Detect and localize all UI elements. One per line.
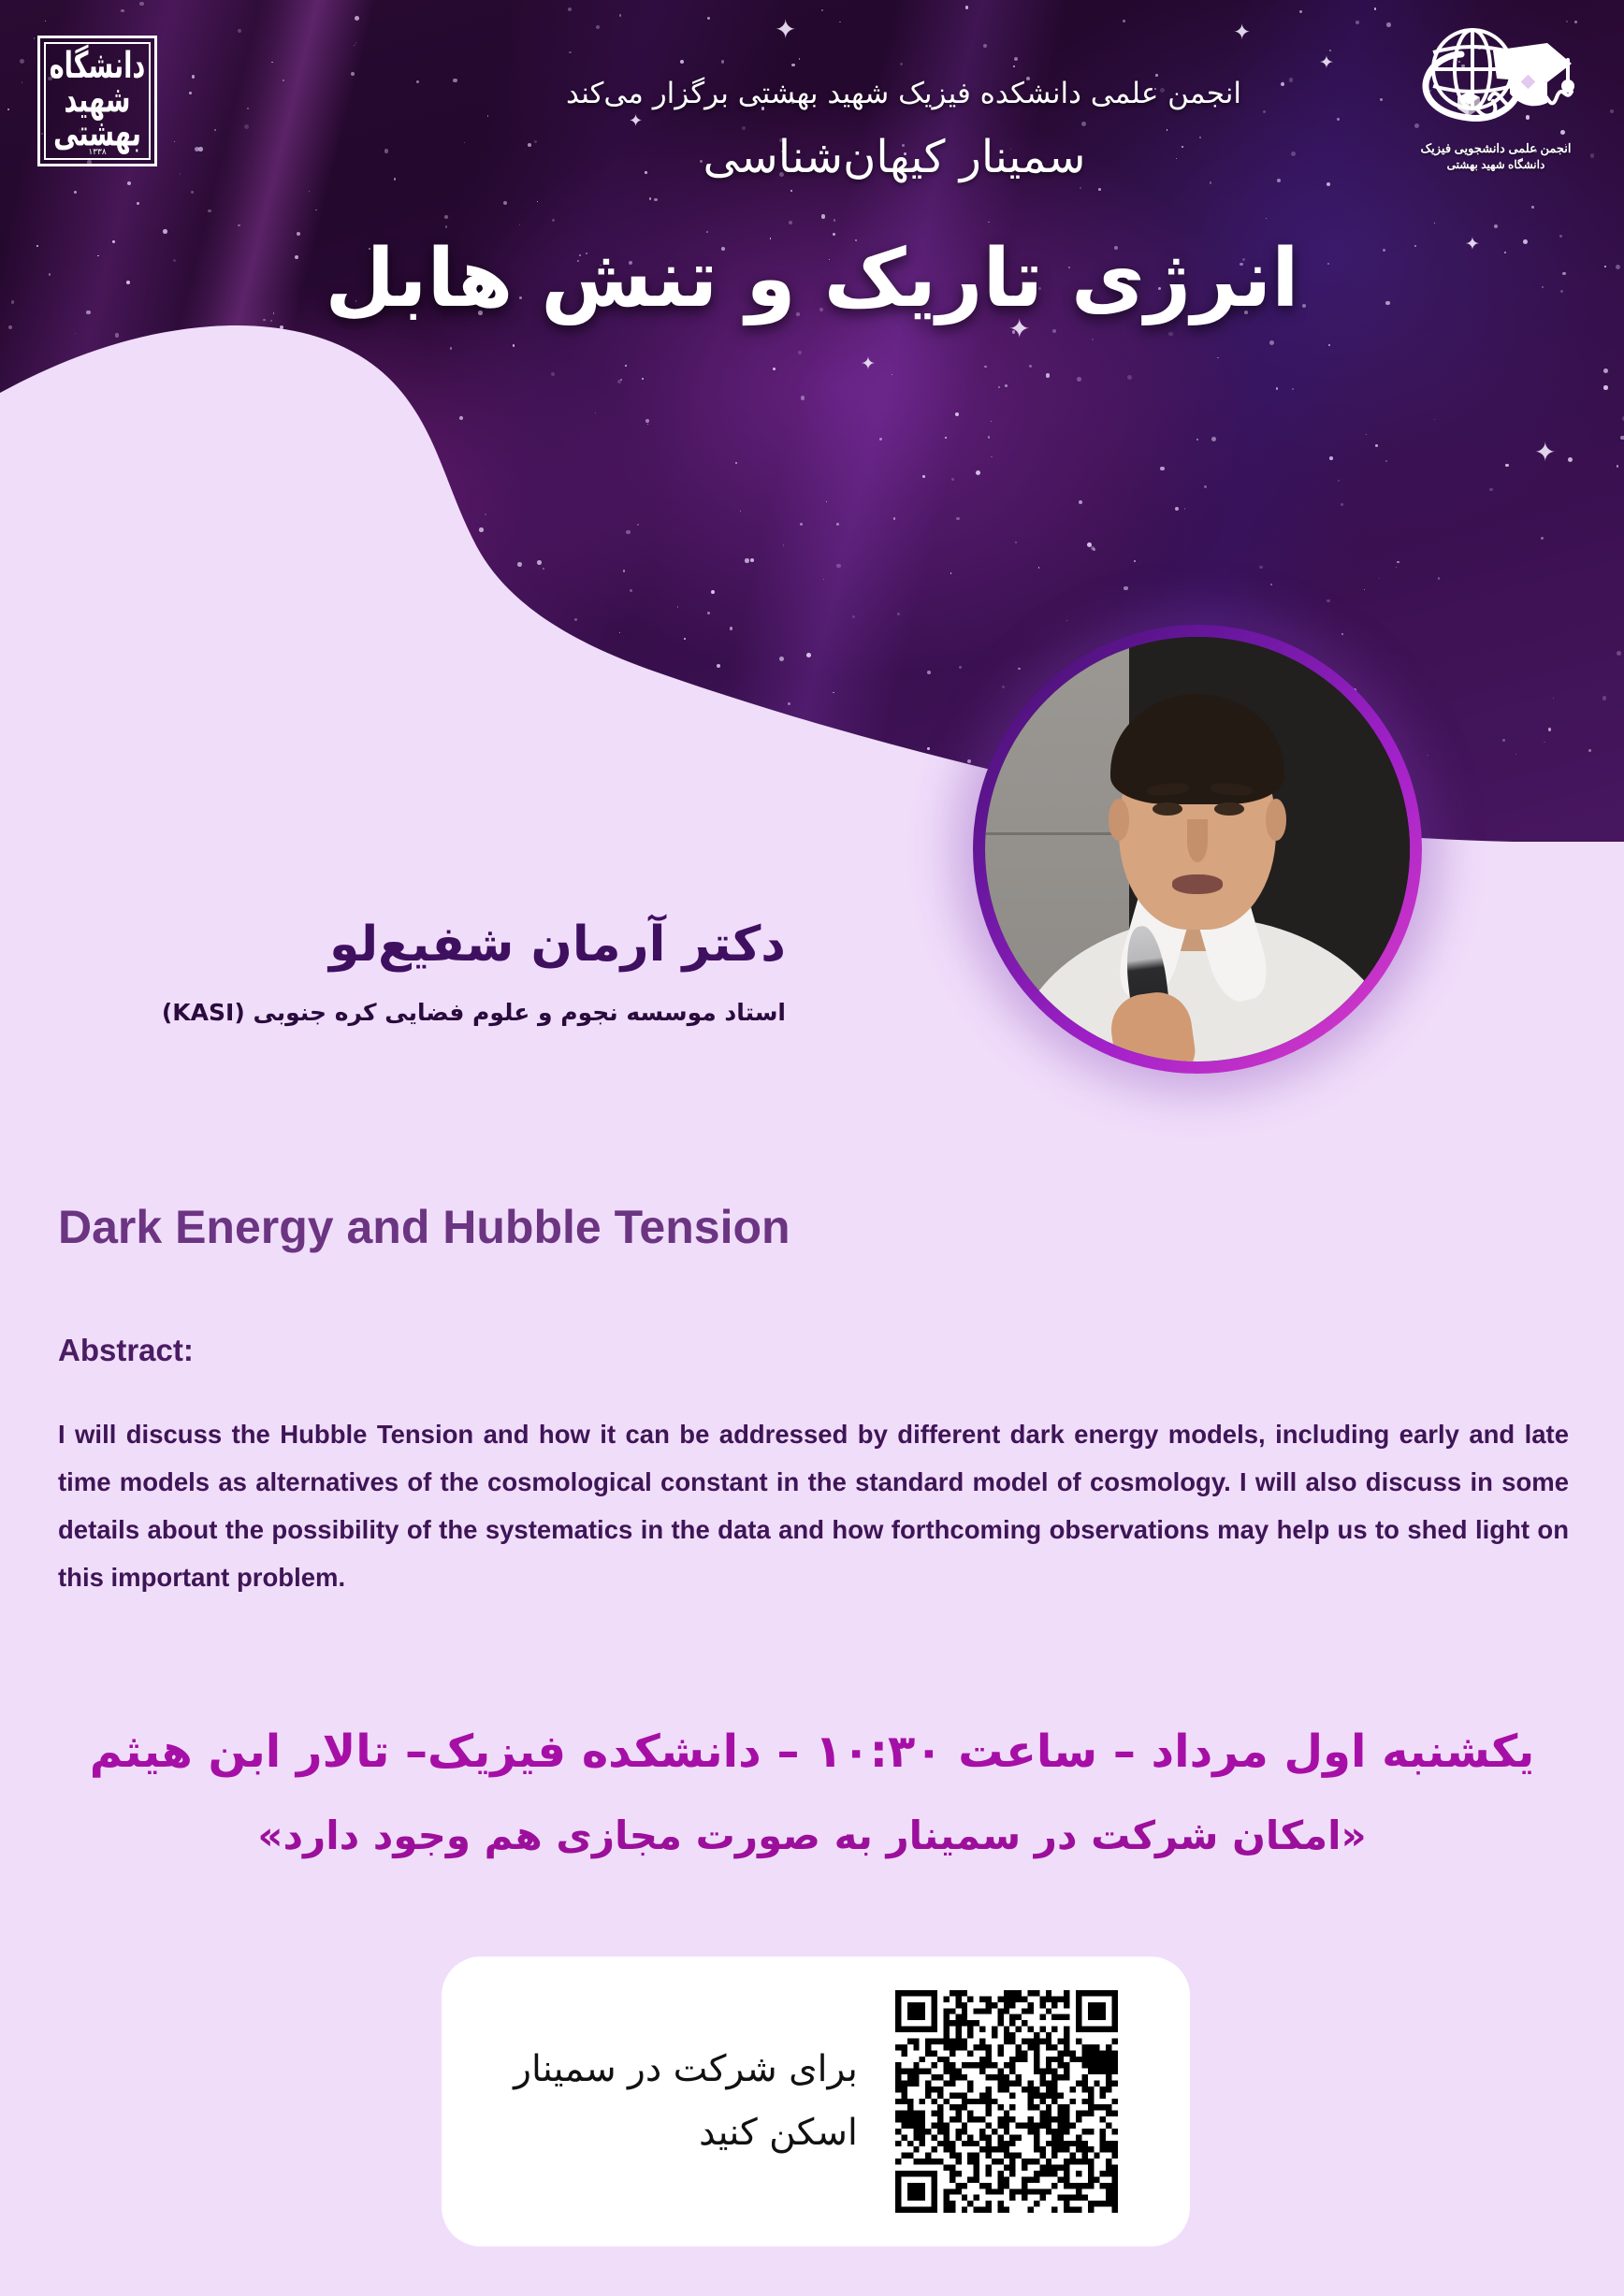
abstract-body: I will discuss the Hubble Tension and ho… — [58, 1410, 1569, 1601]
organizer-line: انجمن علمی دانشکده فیزیک شهید بهشتی برگز… — [380, 77, 1428, 110]
portrait-nose — [1187, 819, 1209, 861]
speaker-name: دکتر آرمان شفیع‌لو — [56, 917, 786, 973]
seminar-registration-qr-code[interactable] — [895, 1990, 1118, 2213]
seminar-poster: ✦✦✦✦✦✦✦✦ دانشگاه شهید بهشتی ۱۳۳۸ — [0, 0, 1624, 2296]
abstract-label: Abstract: — [58, 1333, 194, 1368]
seminar-series-line: سمینار کیهان‌شناسی — [399, 131, 1390, 183]
speaker-portrait — [985, 637, 1410, 1061]
event-virtual-note: «امکان شرکت در سمینار به صورت مجازی هم و… — [0, 1812, 1624, 1858]
qr-instruction-line1: برای شرکت در سمینار — [514, 2038, 858, 2101]
abstract-text: I will discuss the Hubble Tension and ho… — [58, 1410, 1569, 1601]
portrait-eye-left — [1153, 802, 1182, 816]
logo-inner-frame: دانشگاه شهید بهشتی — [44, 42, 151, 160]
qr-canvas[interactable] — [895, 1990, 1118, 2213]
association-caption-line1: انجمن علمی دانشجویی فیزیک — [1398, 140, 1594, 157]
english-talk-title: Dark Energy and Hubble Tension — [58, 1200, 790, 1254]
logo-calligraphy: دانشگاه شهید بهشتی — [50, 51, 146, 152]
shahid-beheshti-university-logo: دانشگاه شهید بهشتی ۱۳۳۸ — [37, 36, 157, 166]
portrait-wall-line — [985, 832, 1129, 835]
logo-founding-year: ۱۳۳۸ — [40, 147, 154, 157]
page-title: انرژی تاریک و تنش هابل — [0, 232, 1624, 325]
speaker-affiliation: استاد موسسه نجوم و علوم فضایی کره جنوبی … — [56, 999, 786, 1026]
association-caption-line2: دانشگاه شهید بهشتی — [1398, 157, 1594, 172]
portrait-ear-left — [1109, 799, 1130, 841]
portrait-eye-right — [1214, 802, 1244, 816]
portrait-mouth — [1172, 874, 1223, 893]
qr-instruction-line2: اسکن کنید — [514, 2101, 858, 2165]
portrait-ear-right — [1266, 799, 1287, 841]
qr-instruction-text: برای شرکت در سمینار اسکن کنید — [514, 2038, 858, 2166]
globe-graduation-cap-icon — [1407, 17, 1585, 140]
event-datetime-location: یکشنبه اول مرداد – ساعت ۱۰:۳۰ – دانشکده … — [0, 1726, 1624, 1778]
qr-registration-card[interactable]: برای شرکت در سمینار اسکن کنید — [442, 1957, 1190, 2246]
speaker-photo-ring — [973, 625, 1422, 1074]
